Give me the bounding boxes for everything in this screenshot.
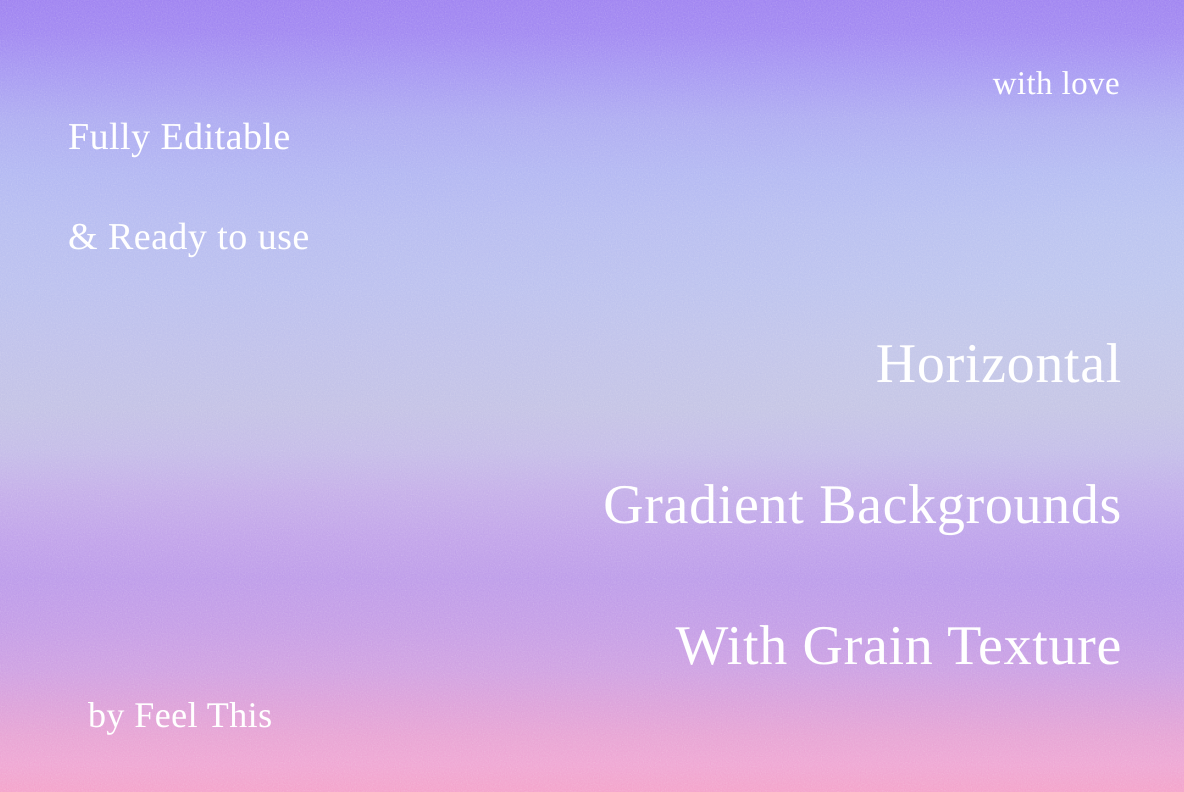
credit-text: by Feel This [88,695,273,736]
headline-line-2: Gradient Backgrounds [603,470,1122,541]
tagline-line-1: Fully Editable [68,112,310,162]
headline-line-3: With Grain Texture [603,611,1122,682]
tagline-text: Fully Editable & Ready to use [68,62,310,313]
with-love-text: with love [993,66,1120,104]
gradient-poster: Fully Editable & Ready to use with love … [0,0,1184,792]
tagline-line-2: & Ready to use [68,212,310,262]
headline-line-1: Horizontal [603,329,1122,400]
headline-text: Horizontal Gradient Backgrounds With Gra… [603,258,1122,752]
